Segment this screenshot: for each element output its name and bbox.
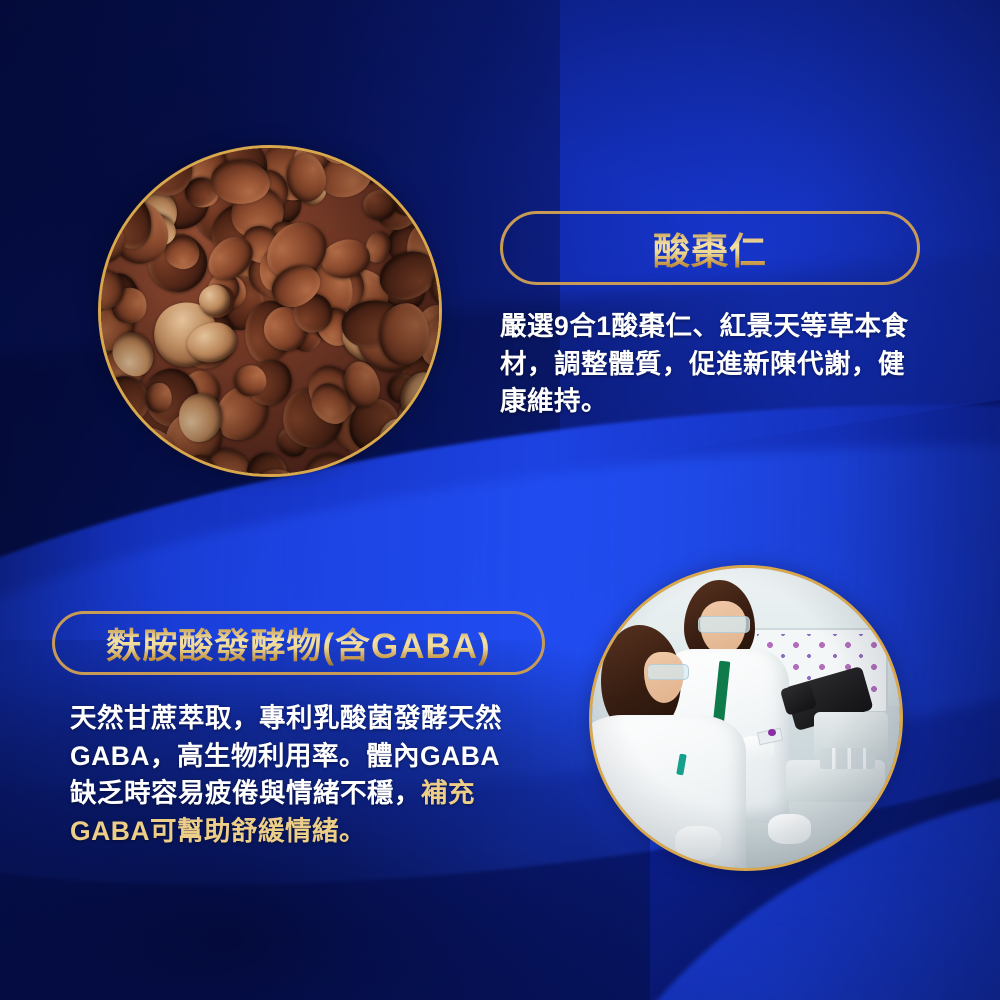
jujube-seeds-photo bbox=[101, 148, 439, 474]
lab-researchers-photo bbox=[592, 568, 900, 868]
jujube-seeds-image-inner bbox=[101, 148, 439, 474]
section-title-text-gaba: 麩胺酸發酵物(含GABA) bbox=[106, 618, 490, 669]
section-body-gaba: 天然甘蔗萃取，專利乳酸菌發酵天然GABA，高生物利用率。體內GABA缺乏時容易疲… bbox=[70, 700, 520, 851]
lab-shading-overlay bbox=[592, 568, 900, 868]
section-title-pill-suanzaoren: 酸棗仁 bbox=[500, 211, 920, 285]
section-body-suanzaoren: 嚴選9合1酸棗仁、紅景天等草本食材，調整體質，促進新陳代謝，健康維持。 bbox=[500, 308, 920, 421]
promo-infographic: 酸棗仁 嚴選9合1酸棗仁、紅景天等草本食材，調整體質，促進新陳代謝，健康維持。 … bbox=[0, 0, 1000, 1000]
section-title-pill-gaba: 麩胺酸發酵物(含GABA) bbox=[52, 611, 545, 675]
lab-image-inner bbox=[592, 568, 900, 868]
seeds-shading-overlay bbox=[101, 148, 439, 474]
section-title-text-suanzaoren: 酸棗仁 bbox=[653, 221, 767, 275]
